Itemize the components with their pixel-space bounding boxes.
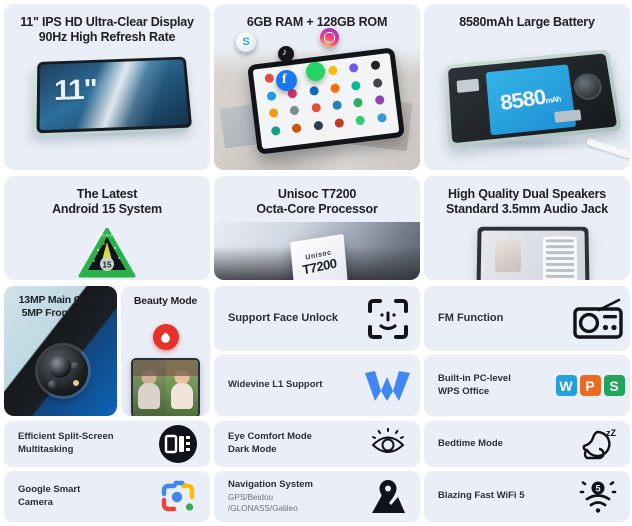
tablet-internals-icon: 8580mAh — [424, 4, 630, 170]
split-screen-icon — [146, 424, 210, 464]
feature-row-fm[interactable]: FM Function — [424, 286, 630, 351]
feature-row-wps[interactable]: Built-in PC-level WPS Office W P S — [424, 355, 630, 416]
android-wordmark: ANDROID — [96, 234, 119, 238]
radio-icon — [566, 298, 630, 340]
wifi-5-icon: 5 — [566, 479, 630, 515]
tiktok-icon: ♪ — [278, 46, 294, 62]
feature-label: Widevine L1 Support — [228, 379, 356, 392]
mid-android-title: The Latest Android 15 System — [4, 176, 210, 218]
feature-label: Navigation System — [228, 479, 356, 492]
feature-card-camera: 13MP Main Camera 5MP Front Camera — [4, 286, 117, 416]
before-after-photo-icon — [131, 358, 200, 416]
skype-icon: S — [236, 32, 256, 52]
feature-label: FM Function — [438, 311, 566, 326]
beauty-title: Beauty Mode — [121, 286, 210, 308]
navigation-pin-icon — [356, 479, 420, 515]
feature-row-face-unlock[interactable]: Support Face Unlock — [214, 286, 420, 351]
feature-label: Support Face Unlock — [228, 311, 356, 326]
hero-card-memory: S ♪ f 6GB RAM + 128GB ROM — [214, 4, 420, 170]
hero-card-display: 11" IPS HD Ultra-Clear Display 90Hz High… — [4, 4, 210, 170]
feature-row-wifi[interactable]: Blazing Fast WiFi 5 5 — [424, 471, 630, 522]
hero-card-battery: 8580mAh Large Battery 8580mAh — [424, 4, 630, 170]
android-version-label: 15 — [103, 261, 112, 270]
feature-row-split-screen[interactable]: Efficient Split-Screen Multitasking — [4, 421, 210, 467]
google-lens-icon — [146, 478, 210, 516]
whatsapp-icon — [306, 62, 325, 81]
battery-capacity-number: 8580 — [499, 85, 547, 115]
wps-s-tile: S — [604, 375, 625, 396]
facebook-icon: f — [276, 70, 297, 91]
feature-sublabel: GPS/Beidou /GLONASS/Galileo — [228, 492, 356, 514]
battery-unit: mAh — [545, 95, 561, 106]
display-size-label: 11" — [54, 74, 97, 108]
zzz-label: zZ — [606, 428, 617, 438]
feature-row-eye-comfort[interactable]: Eye Comfort Mode Dark Mode — [214, 421, 420, 467]
camera-title: 13MP Main Camera 5MP Front Camera — [4, 286, 117, 320]
tablet-speakers-icon — [424, 176, 630, 280]
tablet-front-icon: 11" — [4, 4, 210, 170]
spec-sheet-page: 11" IPS HD Ultra-Clear Display 90Hz High… — [0, 0, 632, 526]
feature-label: Blazing Fast WiFi 5 — [438, 490, 566, 503]
feature-row-navigation[interactable]: Navigation System GPS/Beidou /GLONASS/Ga… — [214, 471, 420, 522]
feature-label: Bedtime Mode — [438, 438, 566, 451]
feature-label: Google Smart Camera — [18, 484, 146, 510]
moon-sleep-icon: zZ — [566, 426, 630, 462]
mid-card-android: The Latest Android 15 System 15 ANDROID — [4, 176, 210, 280]
mid-card-processor: Unisoc T7200 Unisoc T7200 Octa-Core Proc… — [214, 176, 420, 280]
android-15-badge-icon: 15 ANDROID — [78, 228, 136, 280]
mid-processor-title: Unisoc T7200 Octa-Core Processor — [214, 176, 420, 218]
feature-label: Eye Comfort Mode Dark Mode — [228, 431, 356, 457]
mid-card-audio: High Quality Dual Speakers Standard 3.5m… — [424, 176, 630, 280]
feature-label: Efficient Split-Screen Multitasking — [18, 431, 146, 457]
wps-p-tile: P — [580, 375, 601, 396]
widevine-icon — [356, 369, 420, 403]
feature-row-google-camera[interactable]: Google Smart Camera — [4, 471, 210, 522]
instagram-icon — [320, 28, 339, 47]
feature-label: Built-in PC-level WPS Office — [438, 373, 550, 399]
eye-comfort-icon — [356, 428, 420, 460]
wps-office-icon: W P S — [550, 375, 630, 396]
wps-w-tile: W — [556, 375, 577, 396]
feature-row-widevine[interactable]: Widevine L1 Support — [214, 355, 420, 416]
wifi-generation-label: 5 — [595, 483, 600, 493]
beauty-shutter-icon — [153, 324, 179, 350]
feature-row-bedtime[interactable]: Bedtime Mode zZ — [424, 421, 630, 467]
hero-memory-title: 6GB RAM + 128GB ROM — [214, 4, 420, 30]
feature-card-beauty: Beauty Mode — [121, 286, 210, 416]
face-unlock-icon — [356, 298, 420, 340]
